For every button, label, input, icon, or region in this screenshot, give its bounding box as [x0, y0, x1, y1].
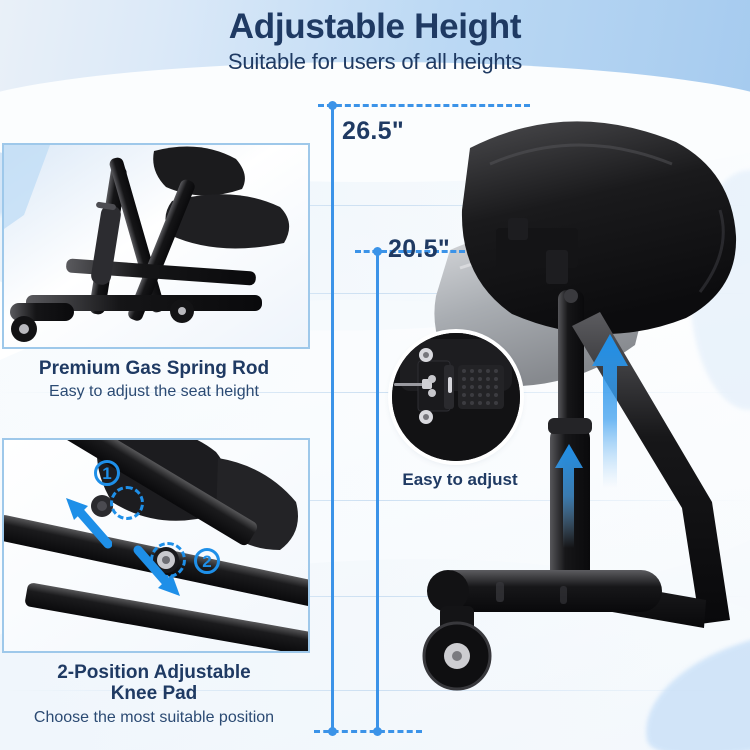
marker-number-1: 1: [94, 460, 120, 486]
caption-knee-pad-subtitle: Choose the most suitable position: [0, 705, 319, 727]
caster-wheel: [424, 606, 490, 689]
page-subtitle: Suitable for users of all heights: [0, 46, 750, 75]
arrow-knee-pad-1: [62, 494, 112, 550]
seat-cushion-black: [462, 121, 736, 334]
arrow-knee-pad-2: [132, 544, 186, 602]
dimension-line-min-height: [376, 251, 379, 733]
caption-gas-spring-subtitle: Easy to adjust the seat height: [0, 379, 319, 401]
marker-number-2: 2: [194, 548, 220, 574]
page-title: Adjustable Height: [0, 0, 750, 46]
gas-spring-closeup-illustration: [4, 145, 308, 347]
infographic-canvas: Adjustable Height Suitable for users of …: [0, 0, 750, 750]
kneeling-chair-illustration: [300, 100, 750, 750]
arrow-height-up-small: [552, 440, 586, 550]
panel-gas-spring-image: [4, 145, 308, 347]
dimension-label-max-height: 26.5": [342, 117, 404, 146]
caption-knee-pad: 2-Position Adjustable Knee Pad Choose th…: [0, 662, 319, 727]
dimension-dash-top-max: [318, 104, 530, 107]
caption-gas-spring-title: Premium Gas Spring Rod: [0, 358, 319, 379]
caption-knee-pad-title-line2: Knee Pad: [0, 683, 319, 704]
header-text-group: Adjustable Height Suitable for users of …: [0, 0, 750, 75]
panel-gas-spring-photo: [2, 143, 310, 349]
dimension-label-min-height: 20.5": [388, 235, 450, 264]
dimension-line-max-height: [331, 105, 334, 733]
marker-number-2-label: 2: [202, 552, 211, 571]
arrow-height-up-large: [588, 330, 632, 490]
caption-gas-spring: Premium Gas Spring Rod Easy to adjust th…: [0, 358, 319, 401]
caption-easy-to-adjust: Easy to adjust: [380, 470, 540, 490]
panel-knee-pad-photo: 1 2: [2, 438, 310, 653]
base-foot-bar: [427, 570, 662, 612]
dimension-dot-baseline-min: [373, 727, 382, 736]
product-main-photo: [300, 100, 750, 750]
marker-number-1-label: 1: [102, 464, 111, 483]
dimension-dot-baseline-max: [328, 727, 337, 736]
adjust-mechanism-illustration: [392, 333, 520, 461]
dashed-ring-1: [110, 486, 144, 520]
detail-inset-adjust-mechanism: [392, 333, 520, 461]
caption-knee-pad-title-line1: 2-Position Adjustable: [0, 662, 319, 683]
